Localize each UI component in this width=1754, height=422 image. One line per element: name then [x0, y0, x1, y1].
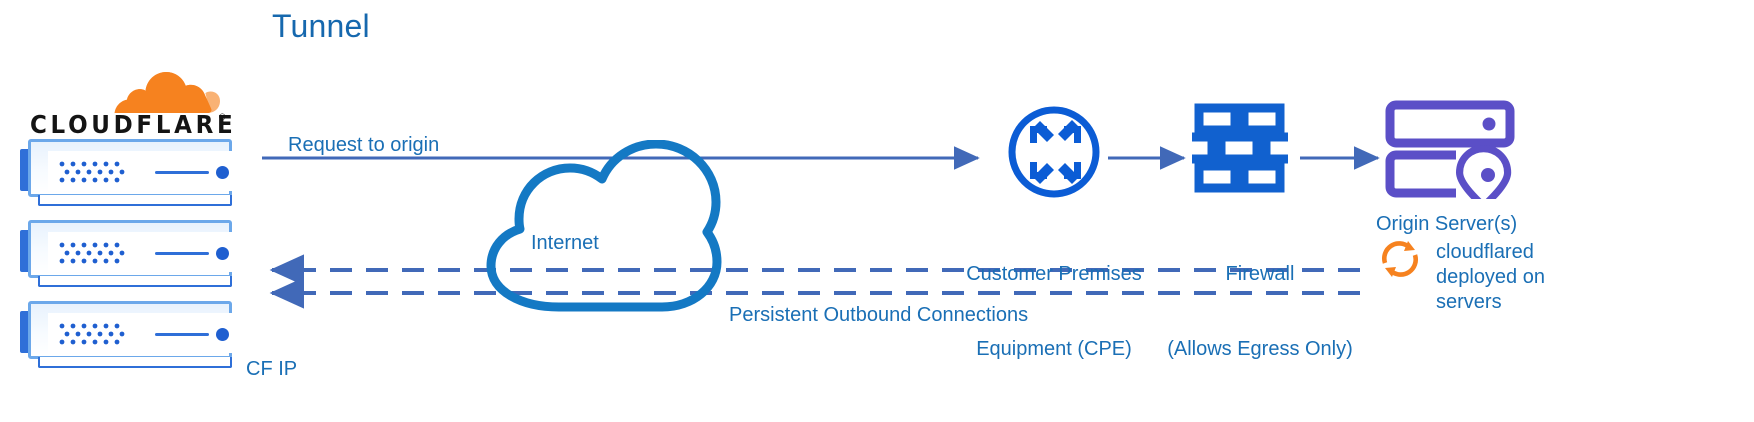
firewall-brick-wall-icon	[1192, 101, 1288, 197]
firewall-label-line1: Firewall	[1140, 262, 1380, 287]
firewall-label: Firewall (Allows Egress Only)	[1140, 212, 1380, 412]
cloudflared-note-line2: deployed on	[1436, 265, 1556, 290]
cloudflared-note: cloudflared deployed on servers	[1436, 240, 1556, 315]
internet-label: Internet	[531, 231, 599, 256]
firewall-label-line2: (Allows Egress Only)	[1140, 337, 1380, 362]
cloudflared-note-line3: servers	[1436, 290, 1556, 315]
diagram-canvas: Tunnel CLOUDFLARE ®	[0, 0, 1754, 422]
origin-server-label: Origin Server(s)	[1376, 212, 1517, 237]
sync-arrows-icon	[1378, 238, 1422, 280]
router-circle-arrows-icon	[1006, 104, 1102, 200]
cf-ip-anycast-label: CF IP (Anycast)	[246, 307, 330, 422]
cf-ip-label-line1: CF IP	[246, 357, 330, 382]
cloudflared-note-line1: cloudflared	[1436, 240, 1556, 265]
internet-cloud-icon	[443, 140, 723, 315]
origin-server-icon	[1384, 99, 1516, 199]
request-to-origin-label: Request to origin	[288, 133, 439, 158]
